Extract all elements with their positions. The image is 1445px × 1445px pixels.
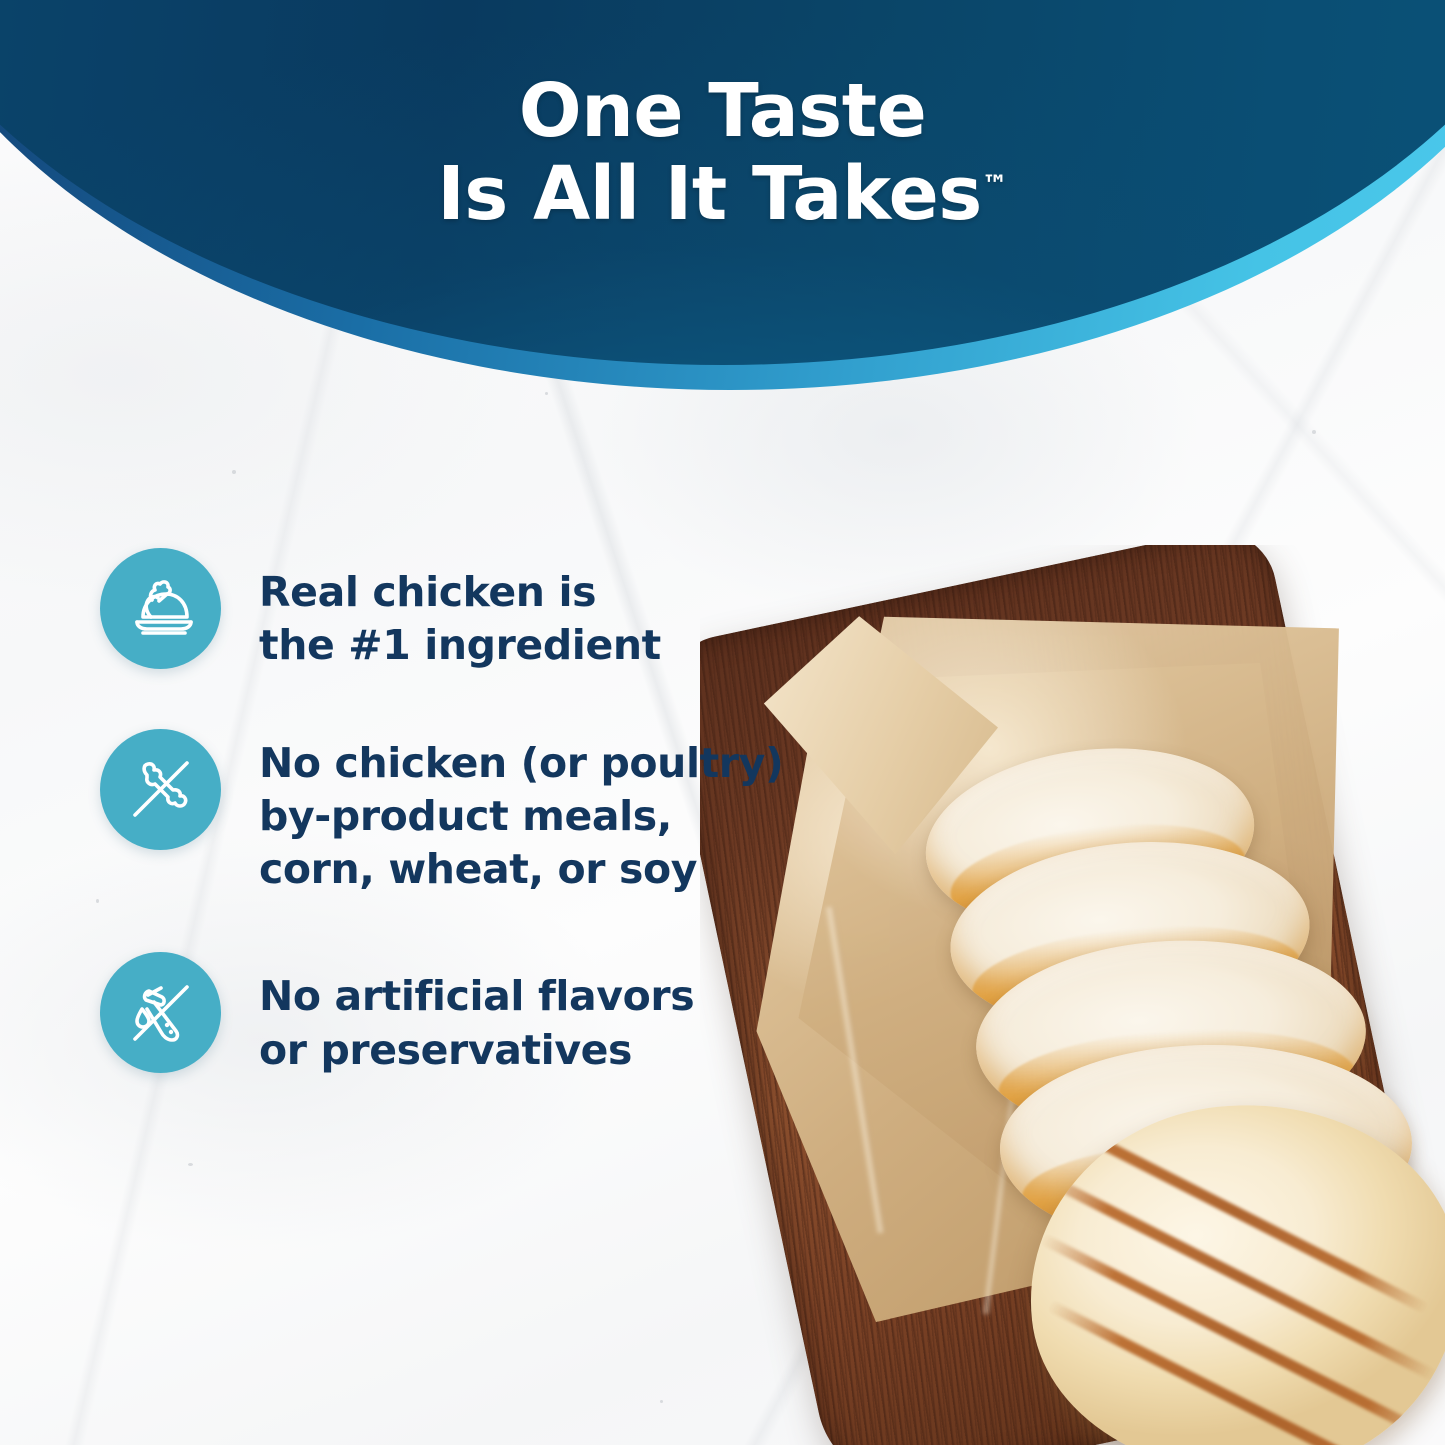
benefit-badge bbox=[100, 729, 221, 850]
benefit-badge bbox=[100, 952, 221, 1073]
benefit-line: or preservatives bbox=[259, 1024, 694, 1077]
benefit-badge bbox=[100, 548, 221, 669]
benefit-line: No chicken (or poultry) bbox=[259, 737, 783, 790]
benefits-list: Real chicken is the #1 ingredient No chi… bbox=[100, 548, 860, 1077]
benefit-line: No artificial flavors bbox=[259, 970, 694, 1023]
benefit-line: by-product meals, bbox=[259, 790, 783, 843]
benefit-item-no-byproduct: No chicken (or poultry) by-product meals… bbox=[100, 729, 860, 897]
benefit-line: the #1 ingredient bbox=[259, 619, 661, 672]
headline-line-2: Is All It Takes bbox=[437, 151, 982, 237]
benefit-text: No artificial flavors or preservatives bbox=[259, 952, 694, 1077]
trademark-symbol: ™ bbox=[982, 170, 1008, 200]
roast-chicken-platter-icon bbox=[121, 569, 201, 649]
benefit-item-no-artificial: No artificial flavors or preservatives bbox=[100, 952, 860, 1077]
promotional-image: One Taste Is All It Takes™ bbox=[0, 0, 1445, 1445]
headline-line-1: One Taste bbox=[519, 68, 927, 154]
no-test-tube-icon bbox=[121, 973, 201, 1053]
no-bone-icon bbox=[121, 749, 201, 829]
benefit-line: Real chicken is bbox=[259, 566, 661, 619]
benefit-text: No chicken (or poultry) by-product meals… bbox=[259, 729, 783, 897]
benefit-item-real-chicken: Real chicken is the #1 ingredient bbox=[100, 548, 860, 673]
benefit-line: corn, wheat, or soy bbox=[259, 843, 783, 896]
benefit-text: Real chicken is the #1 ingredient bbox=[259, 548, 661, 673]
header-banner: One Taste Is All It Takes™ bbox=[0, 0, 1445, 420]
page-title: One Taste Is All It Takes™ bbox=[0, 70, 1445, 236]
